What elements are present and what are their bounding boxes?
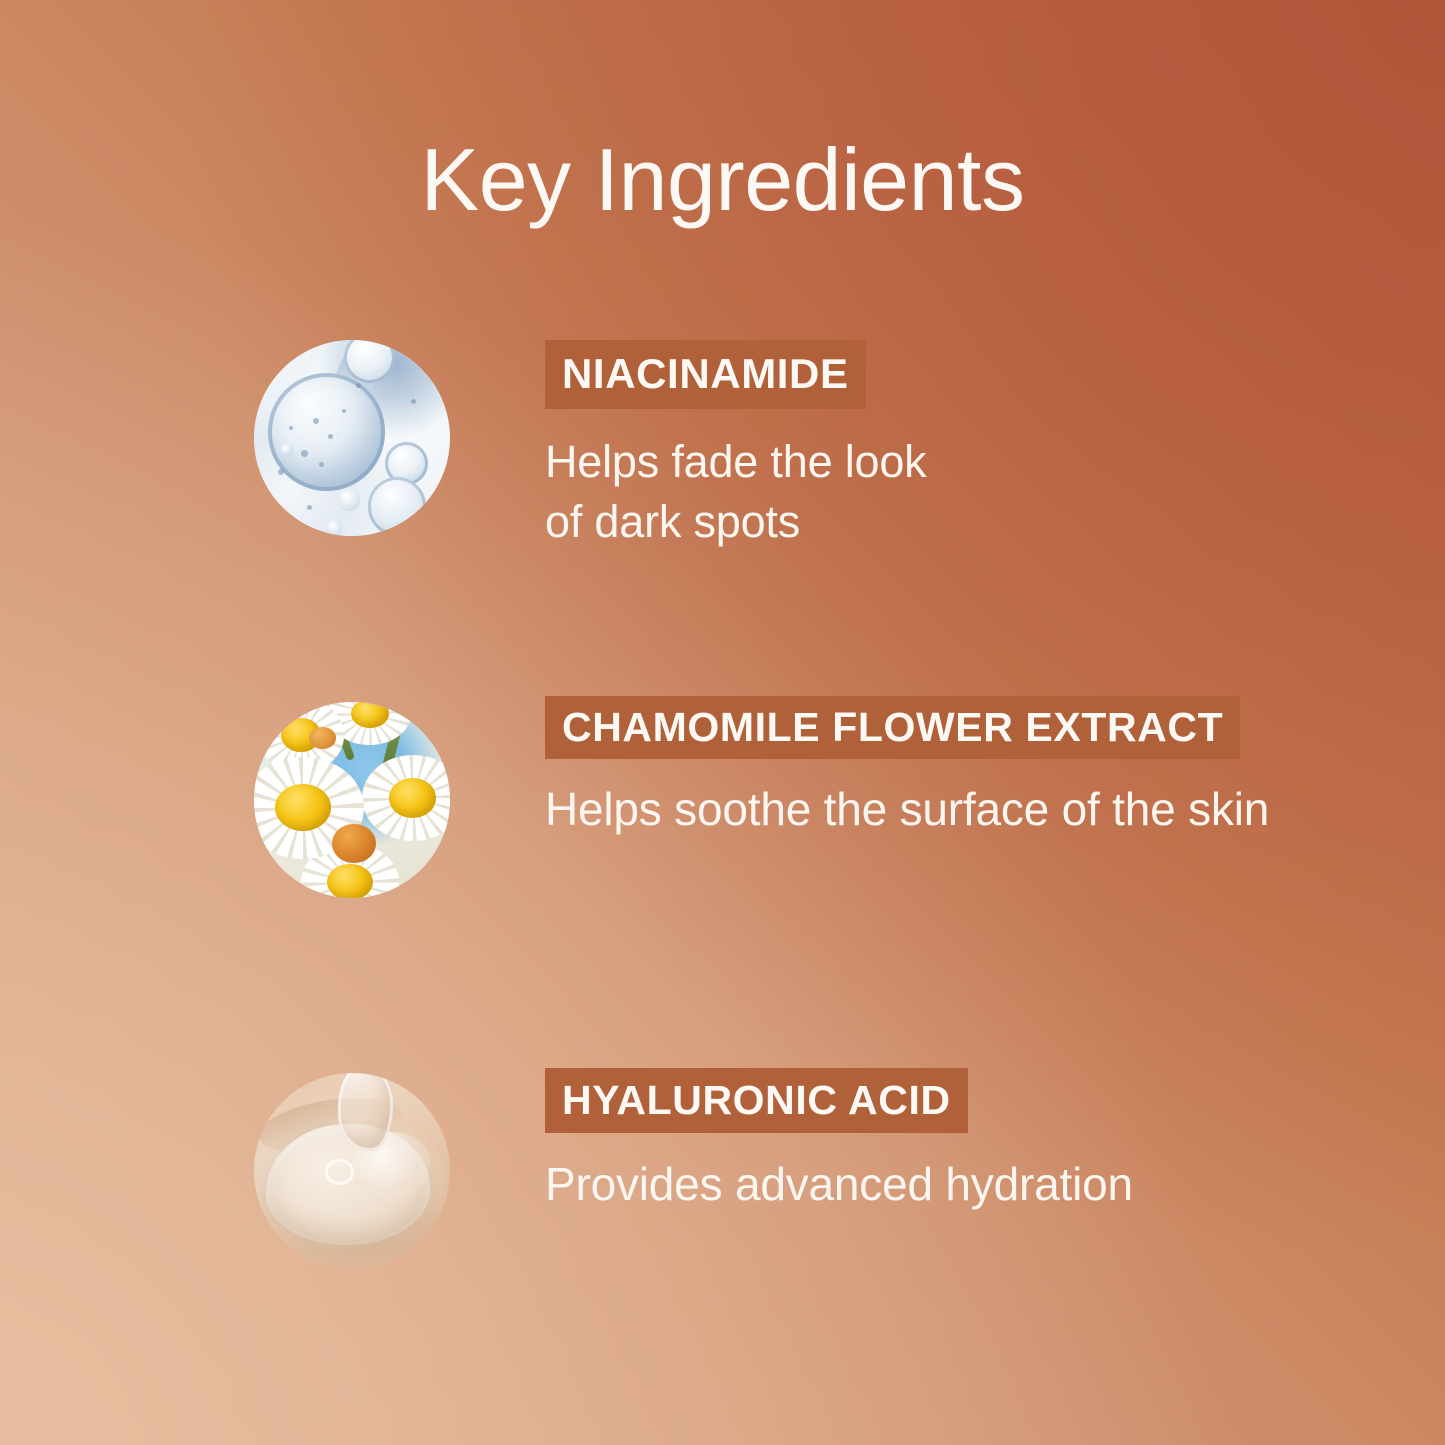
ingredient-text-chamomile: CHAMOMILE FLOWER EXTRACT Helps soothe th… bbox=[545, 696, 1269, 839]
page-title: Key Ingredients bbox=[0, 128, 1445, 232]
ingredient-image-chamomile bbox=[254, 702, 450, 898]
ingredient-name-badge: CHAMOMILE FLOWER EXTRACT bbox=[545, 696, 1240, 759]
ingredient-description: Provides advanced hydration bbox=[545, 1154, 1133, 1214]
clear-gel-droplet-icon bbox=[254, 1073, 450, 1269]
ingredient-description: Helps soothe the surface of the skin bbox=[545, 779, 1269, 839]
chamomile-flowers-icon bbox=[254, 702, 450, 898]
key-ingredients-infographic: Key Ingredients bbox=[0, 0, 1445, 1445]
ingredient-name-badge: NIACINAMIDE bbox=[545, 340, 866, 409]
ingredient-text-hyaluronic-acid: HYALURONIC ACID Provides advanced hydrat… bbox=[545, 1068, 1133, 1214]
ingredient-name-badge: HYALURONIC ACID bbox=[545, 1068, 968, 1133]
ingredient-text-niacinamide: NIACINAMIDE Helps fade the look of dark … bbox=[545, 340, 926, 552]
ingredient-image-hyaluronic-acid bbox=[254, 1073, 450, 1269]
ingredient-description: Helps fade the look of dark spots bbox=[545, 432, 926, 552]
blue-gel-bubbles-icon bbox=[254, 340, 450, 536]
ingredient-image-niacinamide bbox=[254, 340, 450, 536]
